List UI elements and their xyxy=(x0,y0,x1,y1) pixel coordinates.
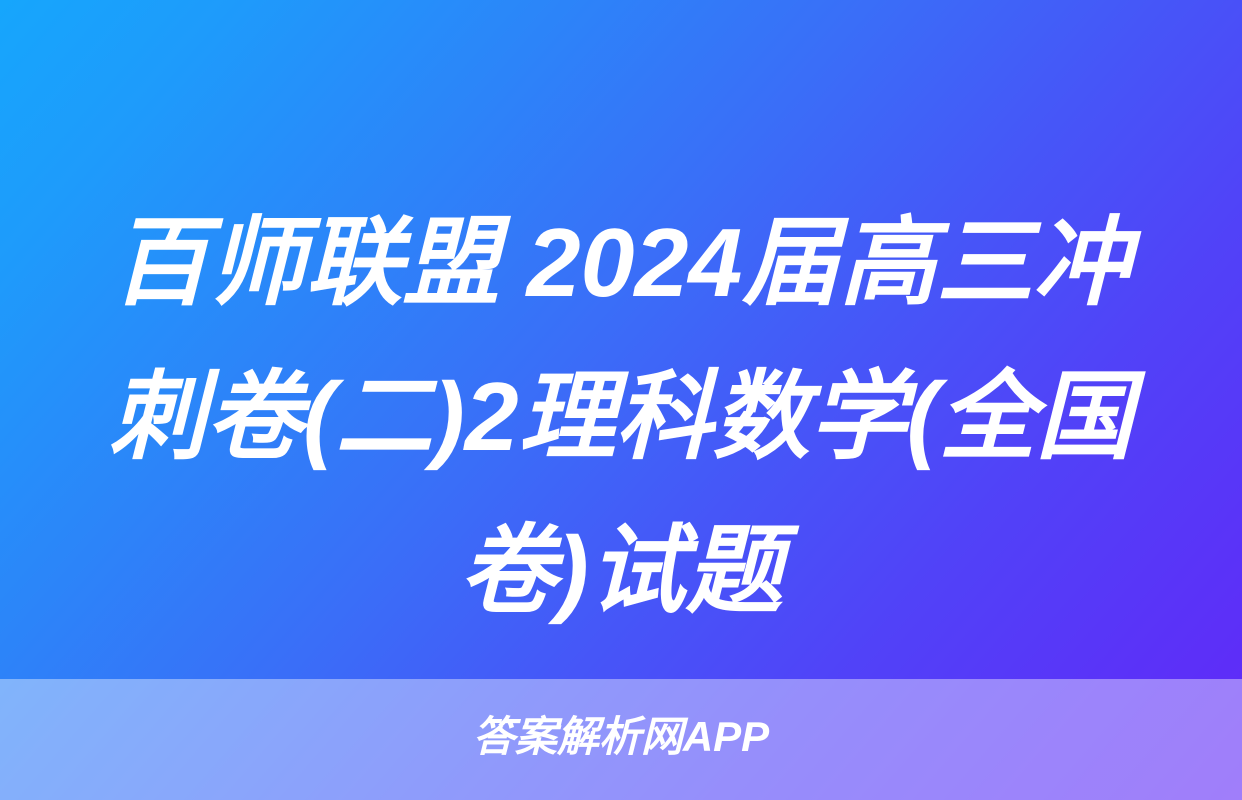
watermark-band: 答案解析网APP xyxy=(0,679,1242,800)
title-line-2: 刺卷(二)2理科数学(全国 xyxy=(40,340,1202,494)
title-line-3: 卷)试题 xyxy=(40,494,1202,648)
watermark-text: 答案解析网APP xyxy=(0,713,1242,761)
page-title: 百师联盟 2024届高三冲 刺卷(二)2理科数学(全国 卷)试题 xyxy=(0,186,1242,648)
title-line-1: 百师联盟 2024届高三冲 xyxy=(40,186,1202,340)
title-card: 百师联盟 2024届高三冲 刺卷(二)2理科数学(全国 卷)试题 答案解析网AP… xyxy=(0,0,1242,800)
